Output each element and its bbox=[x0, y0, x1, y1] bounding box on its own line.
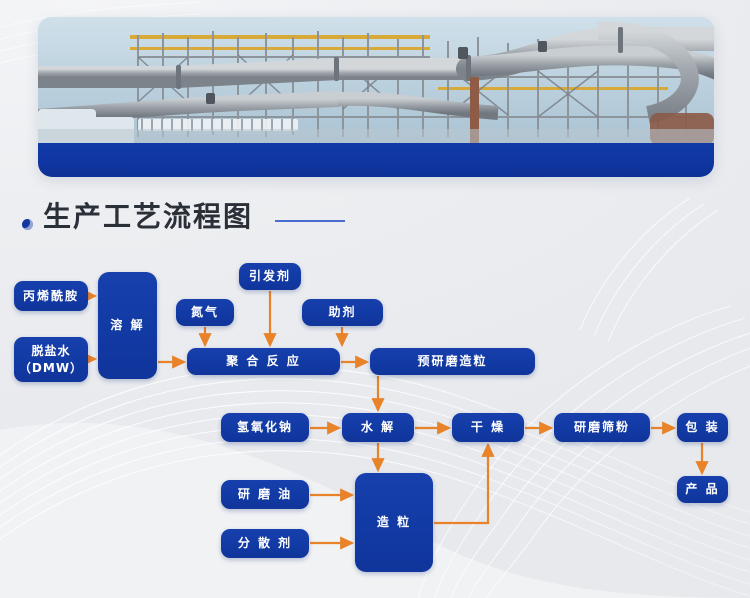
flow-node-drying[interactable]: 干 燥 bbox=[452, 413, 524, 442]
flow-node-grind-sieve[interactable]: 研磨筛粉 bbox=[554, 413, 650, 442]
flow-node-additive[interactable]: 助剂 bbox=[302, 299, 383, 326]
flow-node-dispersant[interactable]: 分 散 剂 bbox=[221, 529, 309, 558]
flow-node-packaging[interactable]: 包 装 bbox=[677, 413, 728, 442]
flow-node-sodium-hydroxide[interactable]: 氢氧化钠 bbox=[221, 413, 309, 442]
flow-node-granulation[interactable]: 造 粒 bbox=[355, 473, 433, 572]
flow-node-hydrolysis[interactable]: 水 解 bbox=[342, 413, 414, 442]
flow-node-pre-granulation[interactable]: 预研磨造粒 bbox=[370, 348, 535, 375]
flow-node-demineralized[interactable]: 脱盐水 （DMW） bbox=[14, 337, 88, 382]
flow-node-product[interactable]: 产 品 bbox=[677, 476, 728, 503]
flow-node-acrylamide[interactable]: 丙烯酰胺 bbox=[14, 281, 88, 311]
flow-node-initiator[interactable]: 引发剂 bbox=[239, 263, 301, 290]
flow-node-grinding-oil[interactable]: 研 磨 油 bbox=[221, 480, 309, 509]
flow-node-nitrogen[interactable]: 氮气 bbox=[176, 299, 234, 326]
process-flow-diagram: 丙烯酰胺脱盐水 （DMW）溶 解氮气引发剂助剂聚 合 反 应预研磨造粒氢氧化钠水… bbox=[0, 0, 750, 598]
flow-node-dissolve[interactable]: 溶 解 bbox=[98, 272, 157, 379]
page-root: 生产工艺流程图 bbox=[0, 0, 750, 598]
flow-node-polymerization[interactable]: 聚 合 反 应 bbox=[187, 348, 340, 375]
